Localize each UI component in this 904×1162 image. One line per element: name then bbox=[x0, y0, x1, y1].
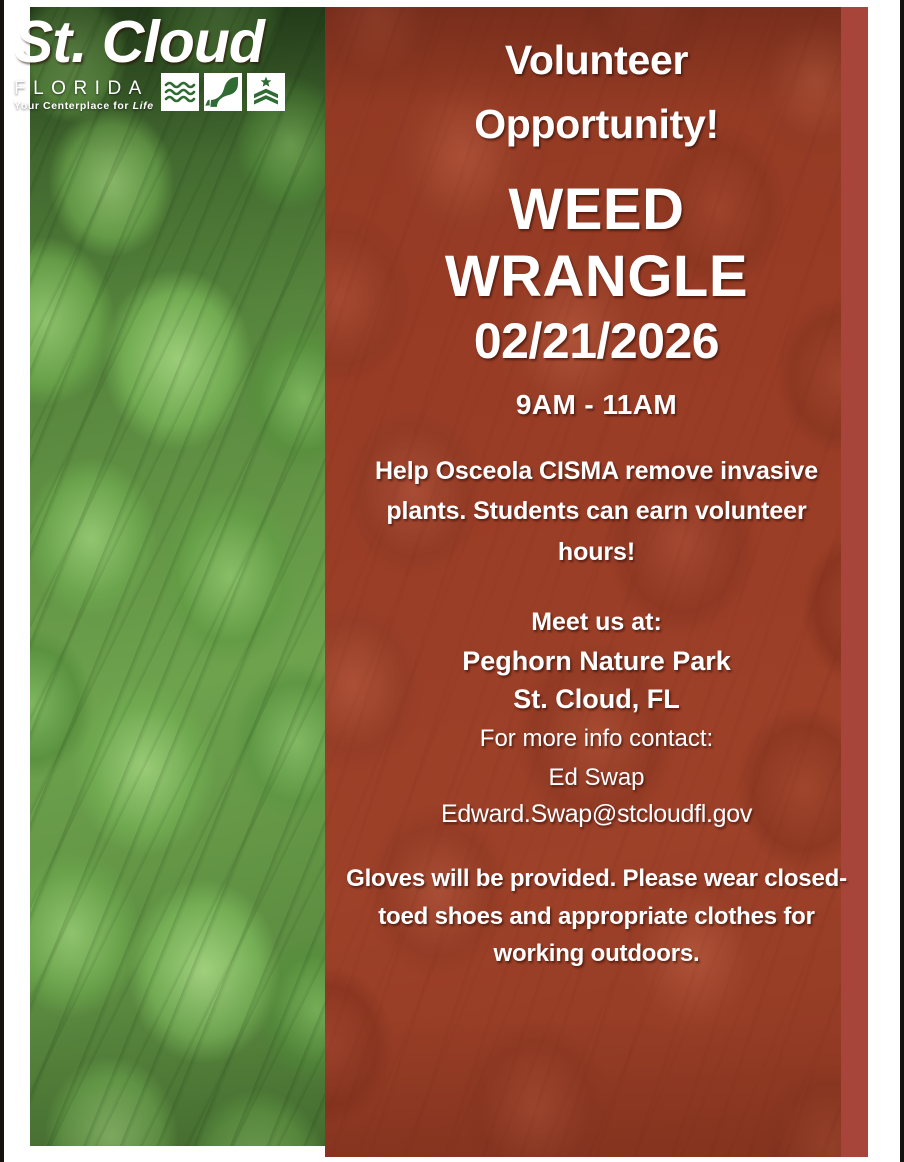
logo-tagline: Your Centerplace for Life bbox=[14, 100, 154, 112]
heron-bird-icon bbox=[204, 73, 242, 111]
right-frame-line bbox=[900, 0, 904, 1162]
event-time: 9AM - 11AM bbox=[335, 389, 858, 421]
venue-name: Peghorn Nature Park bbox=[335, 642, 858, 680]
event-description: Help Osceola CISMA remove invasive plant… bbox=[335, 451, 858, 573]
kicker-line-2: Opportunity! bbox=[335, 95, 858, 153]
left-frame-line bbox=[0, 0, 4, 1162]
logo-city-script: St. Cloud bbox=[14, 14, 276, 71]
logo-tagline-italic: Life bbox=[133, 100, 154, 112]
logo-tagline-prefix: Your Centerplace for bbox=[14, 100, 133, 112]
poster-text-content: Volunteer Opportunity! WEED WRANGLE 02/2… bbox=[325, 7, 868, 1157]
leaf-photo-panel bbox=[30, 7, 325, 1146]
headline-line-1: WEED bbox=[335, 177, 858, 243]
water-waves-icon bbox=[161, 73, 199, 111]
logo-icon-group bbox=[161, 73, 285, 113]
contact-email: Edward.Swap@stcloudfl.gov bbox=[335, 796, 858, 832]
st-cloud-logo: St. Cloud FLORIDA Your Centerplace for L… bbox=[14, 14, 276, 113]
headline-line-2: WRANGLE bbox=[335, 244, 858, 310]
footer-note: Gloves will be provided. Please wear clo… bbox=[335, 860, 858, 972]
poster-canvas: St. Cloud FLORIDA Your Centerplace for L… bbox=[0, 0, 904, 1162]
meet-label: Meet us at: bbox=[335, 604, 858, 642]
kicker-line-1: Volunteer bbox=[335, 31, 858, 89]
contact-label: For more info contact: bbox=[335, 722, 858, 757]
venue-city-state: St. Cloud, FL bbox=[335, 680, 858, 718]
contact-name: Ed Swap bbox=[335, 761, 858, 796]
logo-wordmark: FLORIDA Your Centerplace for Life bbox=[14, 79, 154, 113]
photo-shading-overlay bbox=[30, 7, 325, 1146]
event-date: 02/21/2026 bbox=[335, 314, 858, 369]
logo-state-label: FLORIDA bbox=[14, 79, 154, 99]
military-chevron-star-icon bbox=[247, 73, 285, 111]
